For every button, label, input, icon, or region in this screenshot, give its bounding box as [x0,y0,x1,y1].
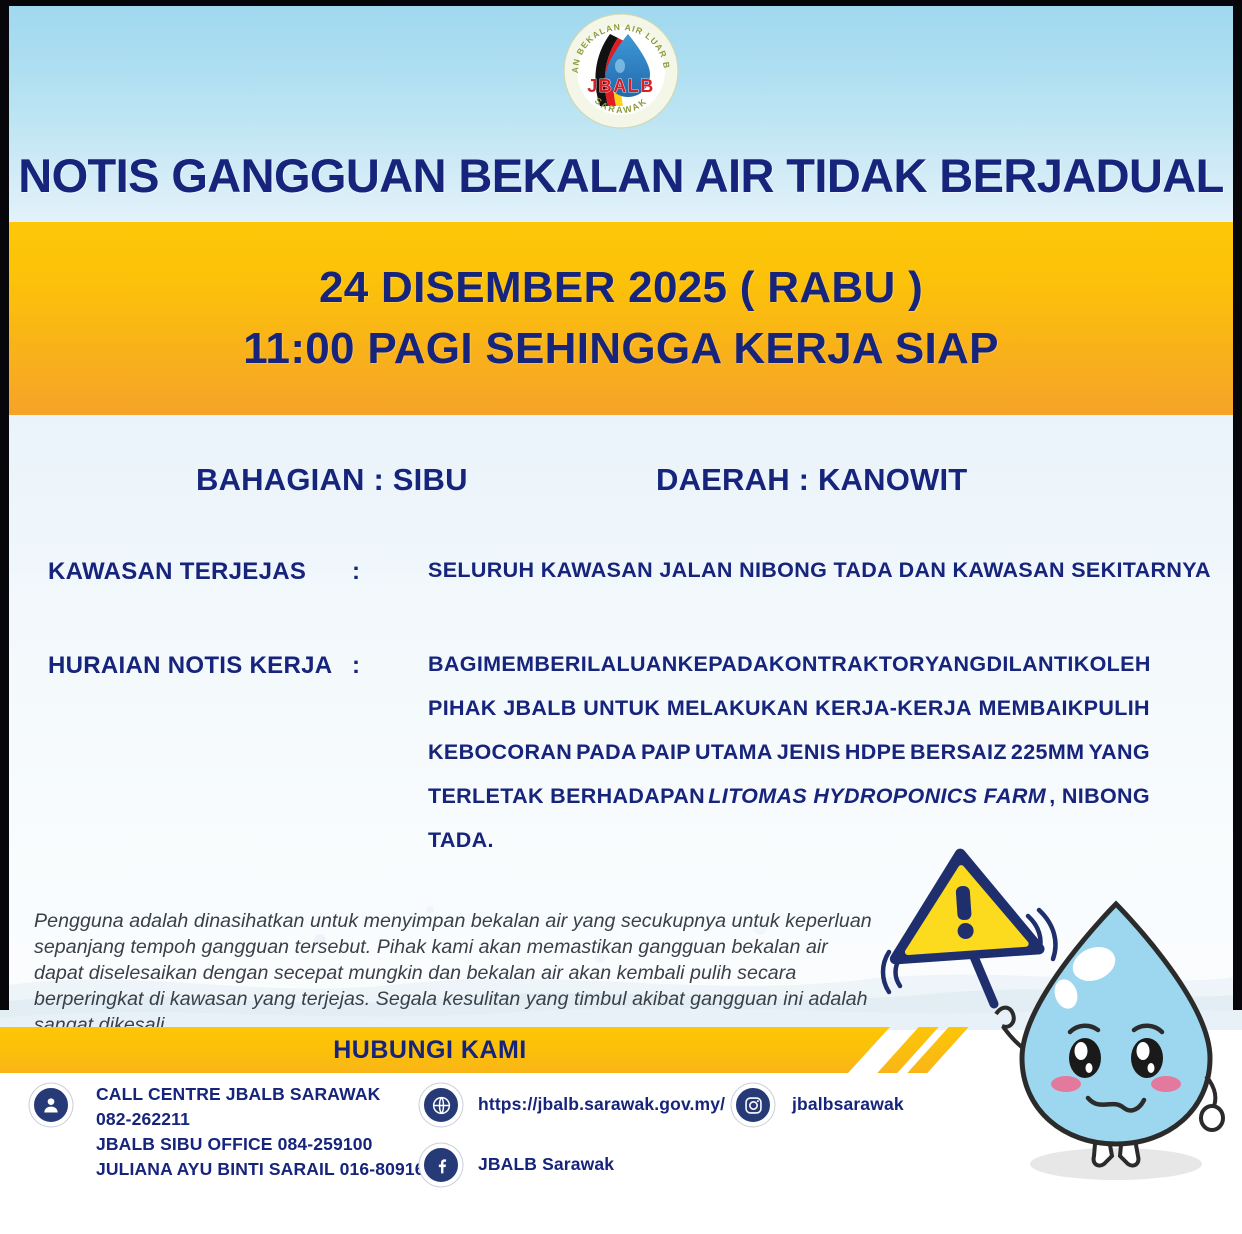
work-notice-farm-name: LITOMAS HYDROPONICS FARM [708,786,1046,808]
water-droplet-mascot [876,846,1242,1194]
facebook-value[interactable]: JBALB Sarawak [478,1152,614,1177]
notice-date: 24 DISEMBER 2025 ( RABU ) [319,258,923,319]
website-value[interactable]: https://jbalb.sarawak.gov.my/ [478,1092,725,1117]
facebook-icon[interactable] [422,1146,460,1184]
affected-area-label: KAWASAN TERJEJAS [48,558,306,586]
frame-left-border [0,0,9,1010]
frame-right-border [1233,0,1242,1010]
district-label: DAERAH : KANOWIT [656,462,967,498]
division-label: BAHAGIAN : SIBU [196,462,468,498]
officer-contact[interactable]: JULIANA AYU BINTI SARAIL 016-8091659 [96,1157,444,1182]
globe-icon[interactable] [422,1086,460,1124]
affected-area-colon: : [352,558,360,586]
page-title: NOTIS GANGGUAN BEKALAN AIR TIDAK BERJADU… [0,148,1242,203]
work-notice-colon: : [352,652,360,680]
contact-bar-label: HUBUNGI KAMI [0,1027,860,1073]
work-notice-line-2: PIHAKJBALBUNTUKMELAKUKANKERJA-KERJAMEMBA… [428,698,1150,742]
notice-time: 11:00 PAGI SEHINGGA KERJA SIAP [243,319,999,380]
svg-text:JBALB: JBALB [587,76,655,96]
affected-area-value: SELURUH KAWASAN JALAN NIBONG TADA DAN KA… [428,560,1150,582]
call-centre-title: CALL CENTRE JBALB SARAWAK [96,1082,444,1107]
frame-top-border [0,0,1242,6]
jbalb-circular-logo: JABATAN BEKALAN AIR LUAR BANDAR SARAWAK … [560,10,682,132]
water-disruption-notice-poster: JABATAN BEKALAN AIR LUAR BANDAR SARAWAK … [0,0,1242,1234]
work-notice-line-4-post: , NIBONG [1049,786,1150,808]
poster-header: JABATAN BEKALAN AIR LUAR BANDAR SARAWAK … [0,0,1242,222]
work-notice-value: BAGIMEMBERILALUANKEPADAKONTRAKTORYANGDIL… [428,654,1150,874]
date-time-banner: 24 DISEMBER 2025 ( RABU ) 11:00 PAGI SEH… [0,222,1242,415]
sibu-office-phone[interactable]: JBALB SIBU OFFICE 084-259100 [96,1132,444,1157]
work-notice-line-5-text: TADA. [428,830,494,852]
advisory-paragraph: Pengguna adalah dinasihatkan untuk menyi… [34,908,879,1038]
work-notice-line-1: BAGIMEMBERILALUANKEPADAKONTRAKTORYANGDIL… [428,654,1150,698]
work-notice-line-4-pre: TERLETAK BERHADAPAN [428,786,705,808]
work-notice-line-3: KEBOCORANPADAPAIPUTAMAJENISHDPEBERSAIZ22… [428,742,1150,786]
call-centre-phone[interactable]: 082-262211 [96,1107,444,1132]
call-centre-block[interactable]: CALL CENTRE JBALB SARAWAK 082-262211 JBA… [96,1082,444,1181]
work-notice-label: HURAIAN NOTIS KERJA [48,652,332,680]
work-notice-line-4: TERLETAK BERHADAPAN LITOMAS HYDROPONICS … [428,786,1150,830]
person-icon [32,1086,70,1124]
instagram-icon[interactable] [734,1086,772,1124]
